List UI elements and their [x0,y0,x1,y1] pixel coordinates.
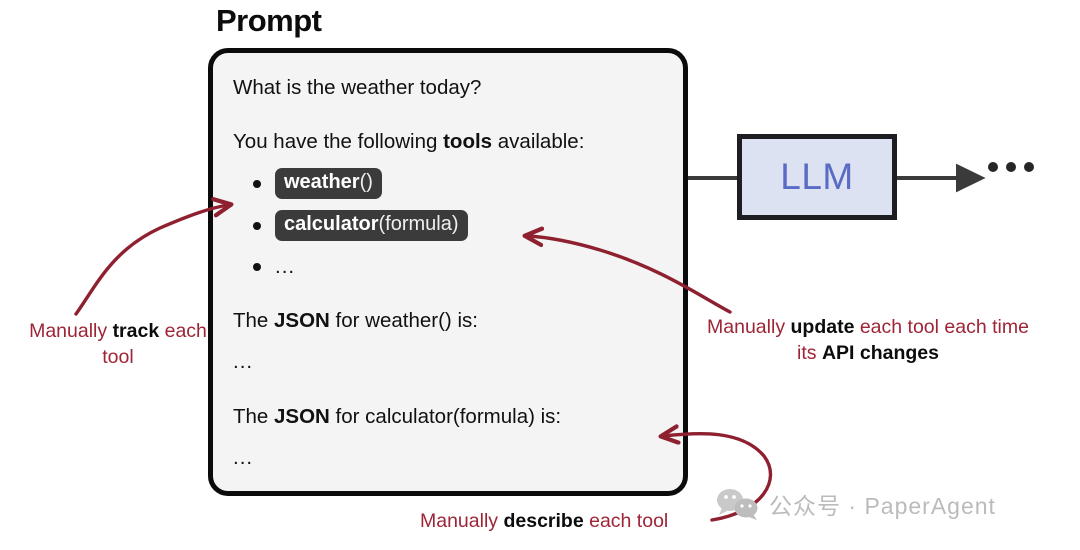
json-ellipsis: ... [233,446,667,470]
watermark-text: 公众号 · PaperAgent [769,487,996,521]
dot-icon [1006,162,1016,172]
annotation-pre: Manually [420,510,503,532]
json-line-post: for calculator(formula) is: [330,405,561,428]
prompt-box: What is the weather today? You have the … [208,48,688,496]
annotation-pre: Manually [707,316,790,338]
annotation-bold-2: API changes [822,342,939,364]
json-block-calculator: The JSON for calculator(formula) is: ... [233,404,667,470]
annotation-post: each tool [584,510,669,532]
tools-list: weather() calculator(formula) ... [233,168,667,282]
prompt-to-llm-connector [688,176,738,180]
annotation-bold: update [791,316,855,338]
tool-pill-weather: weather() [275,168,382,199]
json-line-post: for weather() is: [330,309,478,332]
json-block-weather: The JSON for weather() is: ... [233,308,667,374]
json-line-pre: The [233,309,274,332]
json-line: The JSON for weather() is: [233,308,667,334]
annotation-describe: Manually describe each tool [420,508,720,534]
bullet-dot-icon [253,263,261,271]
list-item: calculator(formula) [233,210,667,241]
tools-intro-pre: You have the following [233,130,443,153]
json-keyword: JSON [274,405,330,428]
arrow-track [76,205,228,314]
dot-icon [1024,162,1034,172]
watermark: 公众号 · PaperAgent [716,487,996,521]
tool-args: (formula) [378,213,458,235]
tool-args: () [360,171,373,193]
prompt-question: What is the weather today? [233,75,667,101]
list-item: ... [233,252,667,282]
tool-name: weather [284,171,360,193]
annotation-bold: track [113,320,160,342]
json-ellipsis: ... [233,350,667,374]
llm-output-ellipsis [988,162,1034,172]
annotation-bold: describe [503,510,583,532]
tools-intro-bold: tools [443,130,492,153]
dot-icon [988,162,998,172]
tool-pill-calculator: calculator(formula) [275,210,468,241]
bullet-dot-icon [253,180,261,188]
llm-label: LLM [780,156,853,198]
annotation-track: Manually track each tool [18,318,218,371]
json-line: The JSON for calculator(formula) is: [233,404,667,430]
annotation-pre: Manually [29,320,112,342]
json-keyword: JSON [274,309,330,332]
tools-intro: You have the following tools available: [233,129,667,155]
list-item: weather() [233,168,667,199]
json-line-pre: The [233,405,274,428]
diagram-canvas: Prompt What is the weather today? You ha… [0,0,1080,550]
wechat-icon [716,487,760,521]
page-title: Prompt [216,2,322,39]
bullet-dot-icon [253,222,261,230]
tools-intro-post: available: [492,130,584,153]
annotation-update: Manually update each tool each time its … [700,314,1036,367]
prompt-content: What is the weather today? You have the … [233,75,667,470]
tool-name: calculator [284,213,378,235]
tools-more-ellipsis: ... [275,257,295,278]
llm-box: LLM [737,134,897,220]
